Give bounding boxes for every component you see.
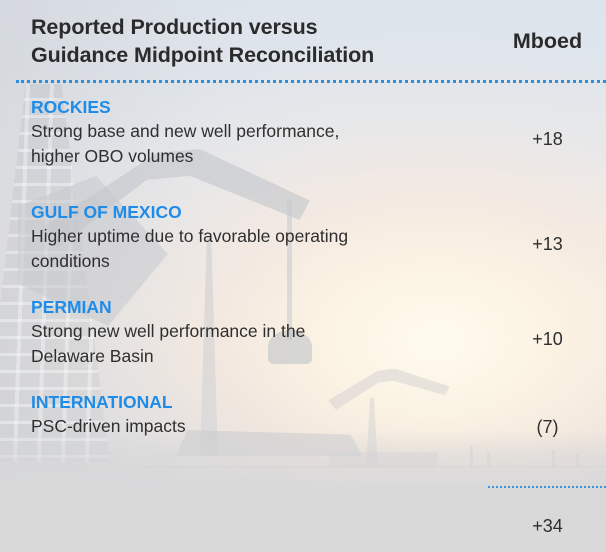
- table-row: ROCKIES Strong base and new well perform…: [0, 96, 606, 201]
- total-divider: [488, 486, 606, 488]
- row-category-label: PERMIAN: [31, 296, 481, 318]
- page-title: Reported Production versus Guidance Midp…: [31, 13, 471, 69]
- row-description-line-2: higher OBO volumes: [31, 144, 481, 168]
- row-description-line-2: Delaware Basin: [31, 344, 481, 368]
- unit-column-header: Mboed: [489, 29, 606, 54]
- total-value: +34: [489, 516, 606, 537]
- row-text-block: GULF OF MEXICO Higher uptime due to favo…: [31, 201, 481, 273]
- slide-root: Reported Production versus Guidance Midp…: [0, 0, 606, 552]
- reconciliation-rows: ROCKIES Strong base and new well perform…: [0, 96, 606, 471]
- row-category-label: INTERNATIONAL: [31, 391, 481, 413]
- table-row: INTERNATIONAL PSC-driven impacts (7): [0, 391, 606, 471]
- row-value: (7): [489, 417, 606, 438]
- row-value: +10: [489, 329, 606, 350]
- row-value: +18: [489, 129, 606, 150]
- table-row: PERMIAN Strong new well performance in t…: [0, 296, 606, 391]
- row-category-label: GULF OF MEXICO: [31, 201, 481, 223]
- slide-header: Reported Production versus Guidance Midp…: [0, 0, 606, 83]
- row-description-line-1: Strong base and new well performance,: [31, 119, 481, 143]
- row-description-line-2: conditions: [31, 249, 481, 273]
- page-title-line-1: Reported Production versus: [31, 13, 471, 41]
- page-title-line-2: Guidance Midpoint Reconciliation: [31, 41, 471, 69]
- row-description-line-1: Strong new well performance in the: [31, 319, 481, 343]
- slide-content: Reported Production versus Guidance Midp…: [0, 0, 606, 552]
- header-divider: [16, 80, 606, 83]
- row-value: +13: [489, 234, 606, 255]
- row-text-block: PERMIAN Strong new well performance in t…: [31, 296, 481, 368]
- row-text-block: INTERNATIONAL PSC-driven impacts: [31, 391, 481, 438]
- row-text-block: ROCKIES Strong base and new well perform…: [31, 96, 481, 168]
- row-category-label: ROCKIES: [31, 96, 481, 118]
- row-description-line-1: Higher uptime due to favorable operating: [31, 224, 481, 248]
- row-description-line-1: PSC-driven impacts: [31, 414, 481, 438]
- table-row: GULF OF MEXICO Higher uptime due to favo…: [0, 201, 606, 296]
